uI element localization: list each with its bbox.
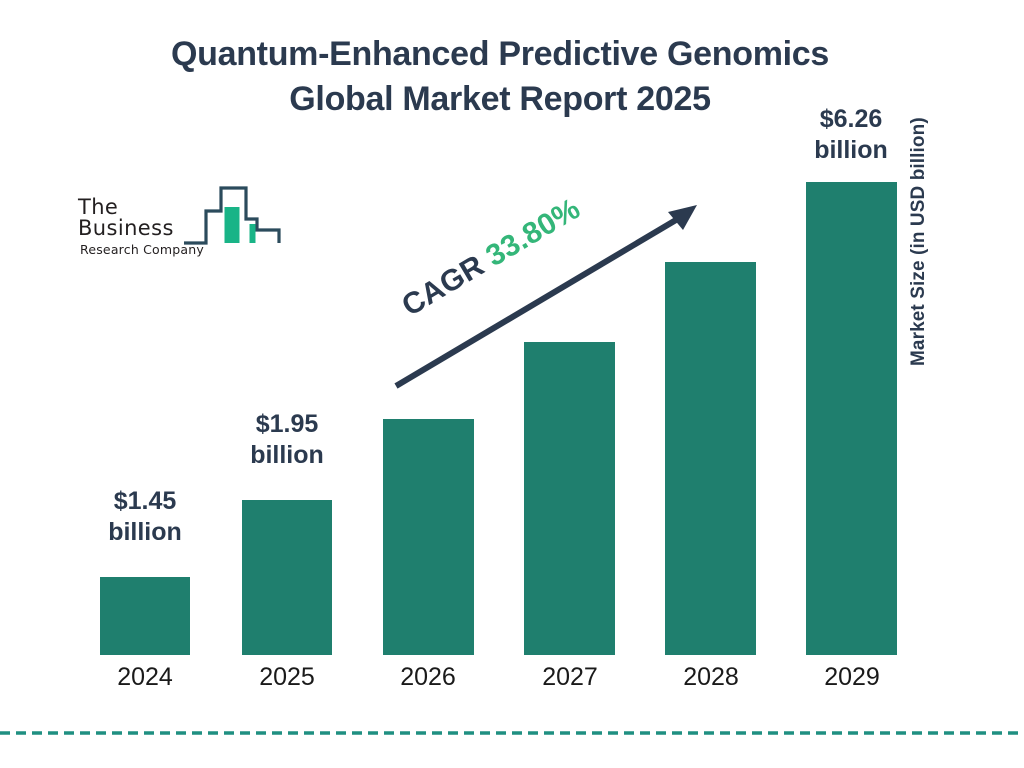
x-tick-label-2024: 2024 xyxy=(75,665,215,690)
x-tick-label-2029: 2029 xyxy=(782,665,922,690)
footer-divider xyxy=(0,731,1024,735)
bar-value-unit-2024: billion xyxy=(75,517,215,548)
bar-2025[interactable] xyxy=(242,500,332,655)
y-axis-title: Market Size (in USD billion) xyxy=(908,36,930,366)
bar-2026[interactable] xyxy=(383,419,474,655)
bar-value-amount-2029: $6.26 xyxy=(781,104,921,135)
x-tick-label-2028: 2028 xyxy=(641,665,781,690)
x-tick-label-2025: 2025 xyxy=(217,665,357,690)
bar-value-label-2024: $1.45 billion xyxy=(75,486,215,547)
bar-2029[interactable] xyxy=(806,182,897,655)
x-tick-label-2026: 2026 xyxy=(358,665,498,690)
bar-value-label-2029: $6.26 billion xyxy=(781,104,921,165)
bar-value-label-2025: $1.95 billion xyxy=(217,409,357,470)
x-tick-label-2027: 2027 xyxy=(500,665,640,690)
cagr-annotation: CAGR 33.80% xyxy=(385,196,715,396)
bar-chart-plot-area: $1.45 billion $1.95 billion $6.26 billio… xyxy=(0,0,1024,768)
bar-value-unit-2029: billion xyxy=(781,135,921,166)
bar-2024[interactable] xyxy=(100,577,190,655)
bar-value-unit-2025: billion xyxy=(217,440,357,471)
bar-value-amount-2024: $1.45 xyxy=(75,486,215,517)
bar-value-amount-2025: $1.95 xyxy=(217,409,357,440)
